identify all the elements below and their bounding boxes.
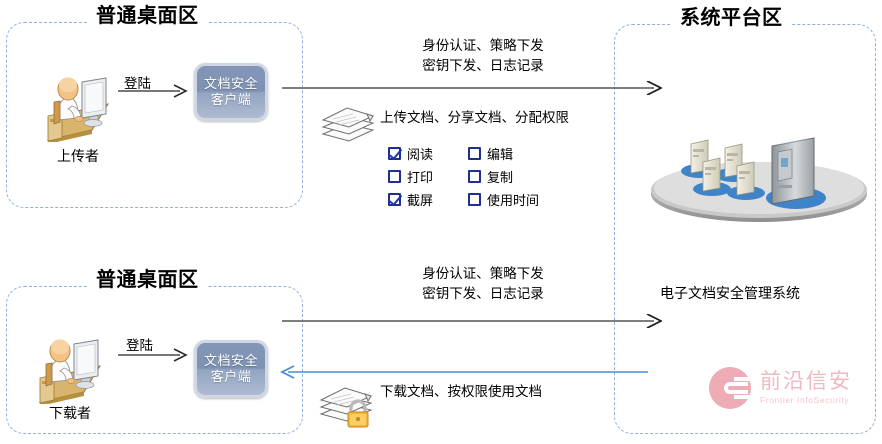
permission-checkbox-5[interactable] — [468, 193, 481, 206]
permission-label-2: 打印 — [407, 167, 433, 186]
locked-document-stack-icon — [317, 374, 383, 430]
bottom-main-arrow-icon — [282, 314, 662, 328]
permission-label-5: 使用时间 — [487, 190, 539, 209]
logo-text-block: 前沿信安 Frontier InfoSecurity — [760, 371, 852, 405]
permission-label-1: 编辑 — [487, 144, 513, 163]
permission-item-1[interactable]: 编辑 — [468, 144, 554, 163]
permission-label-3: 复制 — [487, 167, 513, 186]
zone-top-left-title: 普通桌面区 — [88, 6, 207, 26]
zone-right-title: 系统平台区 — [672, 8, 791, 28]
permissions-grid: 阅读 编辑 打印 复制 截屏 使用时间 — [388, 142, 554, 210]
bottom-main-arrow-label: 身份认证、策略下发 密钥下发、日志记录 — [348, 264, 618, 303]
company-logo: 前沿信安 Frontier InfoSecurity — [708, 366, 852, 410]
permission-label-0: 阅读 — [407, 144, 433, 163]
diagram-canvas: 普通桌面区 上传者 登 — [0, 0, 882, 444]
top-client-line2: 客户端 — [211, 92, 252, 108]
bottom-main-arrow-label-line1: 身份认证、策略下发 — [348, 264, 618, 284]
top-document-stack-icon — [317, 96, 379, 144]
top-client-line1: 文档安全 — [204, 76, 258, 92]
permission-checkbox-0[interactable] — [388, 147, 401, 160]
permission-item-3[interactable]: 复制 — [468, 167, 554, 186]
server-cluster-icon — [648, 128, 870, 228]
permission-checkbox-2[interactable] — [388, 170, 401, 183]
person-at-desk-icon-bottom — [28, 320, 112, 404]
top-main-arrow-label-line2: 密钥下发、日志记录 — [348, 56, 618, 76]
bottom-login-arrow-icon — [118, 348, 188, 362]
bottom-actor-label: 下载者 — [28, 403, 112, 423]
bottom-client-box[interactable]: 文档安全 客户端 — [194, 340, 268, 398]
permission-label-4: 截屏 — [407, 190, 433, 209]
permission-item-4[interactable]: 截屏 — [388, 190, 464, 209]
top-main-arrow-icon — [282, 81, 662, 95]
logo-en-name: Frontier InfoSecurity — [760, 396, 852, 405]
platform-system-name: 电子文档安全管理系统 — [660, 283, 800, 303]
permission-checkbox-1[interactable] — [468, 147, 481, 160]
top-actor-label: 上传者 — [36, 146, 120, 166]
frontier-infosecurity-logo-icon — [708, 366, 752, 410]
top-doc-action-label: 上传文档、分享文档、分配权限 — [380, 108, 569, 128]
logo-cn-name: 前沿信安 — [760, 371, 852, 392]
permission-checkbox-4[interactable] — [388, 193, 401, 206]
bottom-doc-action-label: 下载文档、按权限使用文档 — [380, 382, 542, 402]
top-login-arrow-icon — [118, 84, 188, 98]
zone-bottom-left-title: 普通桌面区 — [88, 270, 207, 290]
permission-item-5[interactable]: 使用时间 — [468, 190, 554, 209]
permission-checkbox-3[interactable] — [468, 170, 481, 183]
top-main-arrow-label: 身份认证、策略下发 密钥下发、日志记录 — [348, 36, 618, 75]
bottom-client-line2: 客户端 — [211, 369, 252, 385]
bottom-client-line1: 文档安全 — [204, 353, 258, 369]
person-at-desk-icon — [36, 58, 120, 142]
top-main-arrow-label-line1: 身份认证、策略下发 — [348, 36, 618, 56]
bottom-main-arrow-label-line2: 密钥下发、日志记录 — [348, 284, 618, 304]
permission-item-2[interactable]: 打印 — [388, 167, 464, 186]
top-client-box[interactable]: 文档安全 客户端 — [194, 63, 268, 121]
permission-item-0[interactable]: 阅读 — [388, 144, 464, 163]
